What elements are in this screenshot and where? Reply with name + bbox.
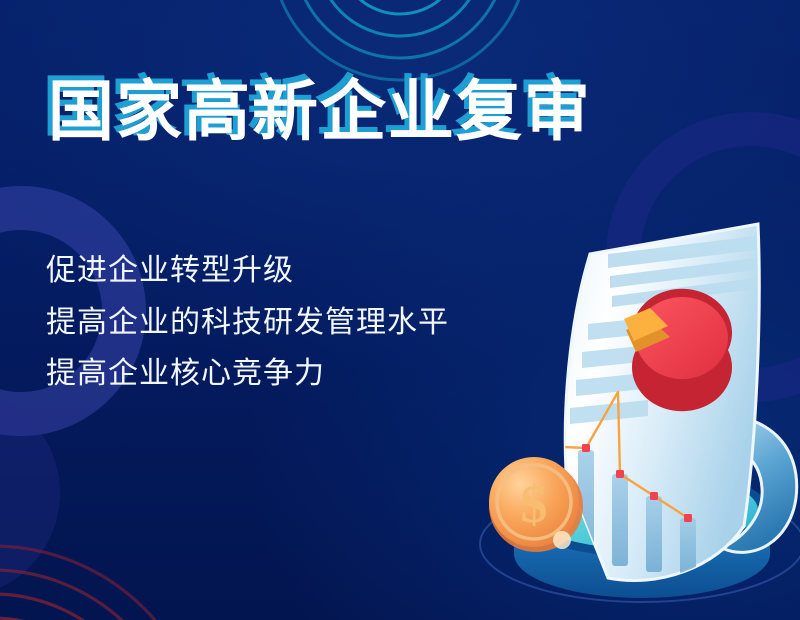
page-title-face: 国家高新企业复审 bbox=[48, 74, 592, 148]
benefit-list: 促进企业转型升级 提高企业的科技研发管理水平 提高企业核心竞争力 bbox=[46, 245, 449, 400]
headline-block: 国家高新企业复审 国家高新企业复审 bbox=[48, 78, 592, 144]
page-title: 国家高新企业复审 国家高新企业复审 bbox=[48, 78, 592, 144]
poster-canvas: 国家高新企业复审 国家高新企业复审 促进企业转型升级 提高企业的科技研发管理水平… bbox=[0, 0, 800, 620]
benefit-item-2: 提高企业的科技研发管理水平 bbox=[46, 297, 449, 349]
decorative-arcs-bottom-left bbox=[0, 440, 158, 620]
decorative-arcs-top bbox=[274, 0, 526, 68]
benefit-item-1: 促进企业转型升级 bbox=[46, 245, 449, 297]
benefit-item-3: 提高企业核心竞争力 bbox=[46, 348, 449, 400]
hero-illustration: $ bbox=[470, 196, 800, 620]
coin-currency-symbol: $ bbox=[521, 474, 548, 534]
